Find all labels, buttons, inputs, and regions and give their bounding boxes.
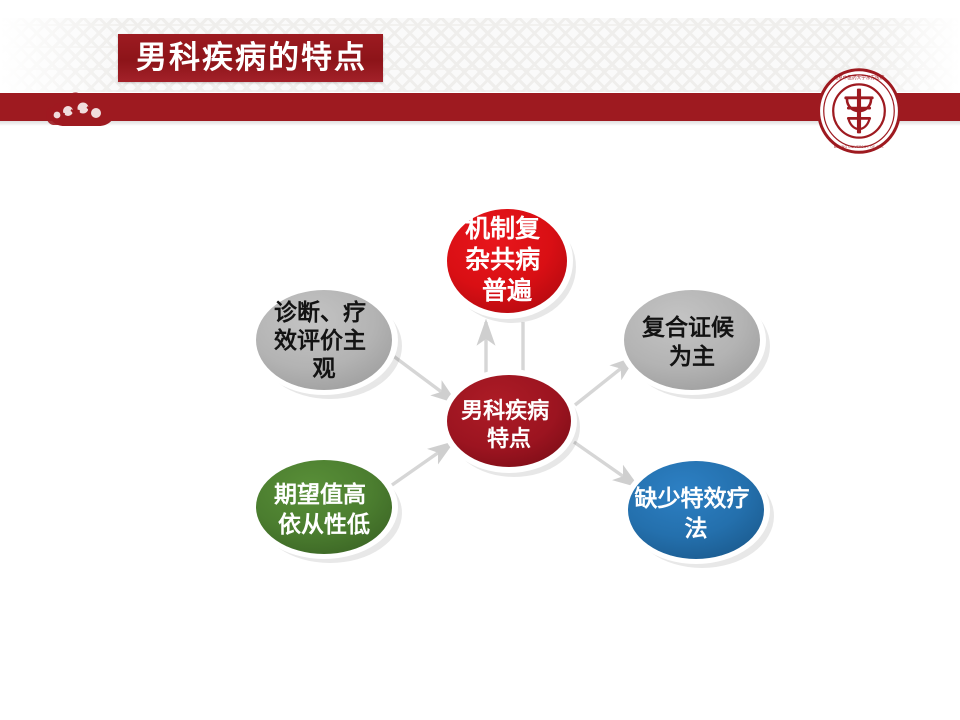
slide-footer-space [0, 620, 960, 720]
pattern-fade-left [0, 18, 120, 92]
node-lower-left-line-1: 依从性低 [278, 511, 370, 538]
university-seal-logo: 北京中医药大学东方医院 BEIJING UNIVERSITY OF C.M. [816, 68, 902, 154]
node-lower-left[interactable]: 期望值高 依从性低 [256, 460, 392, 554]
slide-header: 男科疾病的特点 北京中医药大学东方医院 BEIJING UNIVERSITY O… [0, 0, 960, 145]
node-upper-left-line-0: 诊断、疗 [274, 299, 366, 326]
node-center-line-0: 男科疾病 [461, 398, 549, 424]
node-lower-right-line-1: 法 [685, 515, 708, 542]
connector-upperleft-to-center [392, 355, 455, 402]
node-lower-right-line-0: 缺少特效疗 [634, 485, 749, 512]
slide-title-box: 男科疾病的特点 [118, 34, 383, 82]
node-lower-right[interactable]: 缺少特效疗 法 [628, 461, 764, 559]
connector-center-to-lowerright [574, 442, 637, 486]
node-upper-right-line-0: 复合证候 [641, 314, 735, 341]
node-top-line-2: 普遍 [482, 276, 532, 305]
node-lower-left-line-0: 期望值高 [274, 481, 366, 508]
connector-center-to-upperright [575, 358, 634, 405]
node-upper-left-line-1: 效评价主 [274, 327, 366, 354]
page-title: 男科疾病的特点 [136, 43, 367, 74]
node-top-line-0: 机制复 [465, 214, 541, 243]
node-upper-right-line-1: 为主 [669, 343, 715, 370]
node-center-line-1: 特点 [487, 426, 531, 452]
node-center[interactable]: 男科疾病 特点 [447, 375, 571, 467]
chinese-cloud-motif [44, 84, 136, 130]
radial-diagram: 机制复 杂共病 普遍 诊断、疗 效评价主 观 复合证候 为主 男科疾病 特点 期 [0, 150, 960, 620]
node-upper-left-line-2: 观 [313, 355, 336, 382]
node-upper-left[interactable]: 诊断、疗 效评价主 观 [256, 290, 392, 390]
connector-lowerleft-to-center [392, 443, 452, 485]
node-upper-right[interactable]: 复合证候 为主 [624, 290, 760, 390]
node-top[interactable]: 机制复 杂共病 普遍 [447, 209, 567, 313]
node-top-line-1: 杂共病 [465, 245, 540, 274]
svg-text:BEIJING UNIVERSITY OF C.M.: BEIJING UNIVERSITY OF C.M. [834, 145, 884, 149]
